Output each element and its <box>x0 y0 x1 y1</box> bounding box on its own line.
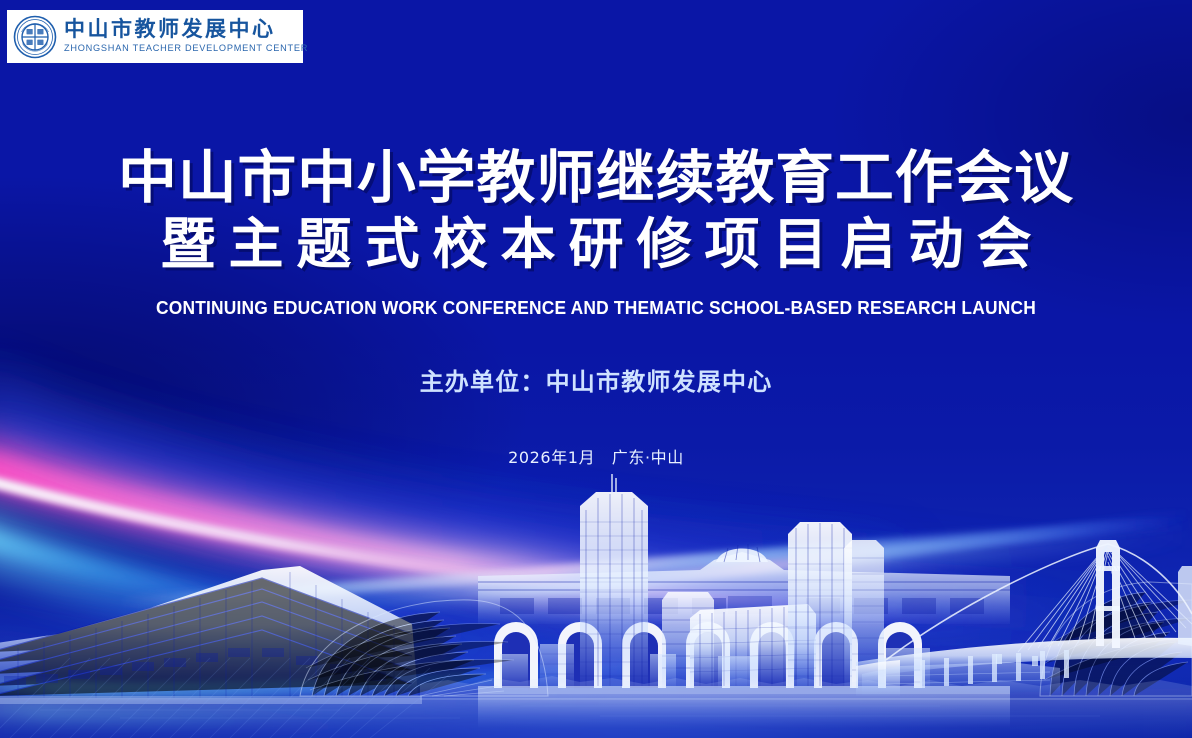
page-title-line-1: 中山市中小学教师继续教育工作会议 <box>0 145 1192 211</box>
circular-seal-icon <box>13 15 57 59</box>
page-title-line-2: 暨主题式校本研修项目启动会 <box>0 212 1192 276</box>
logo-name-en: ZHONGSHAN TEACHER DEVELOPMENT CENTER <box>64 44 308 53</box>
city-skyline-icon <box>0 448 1192 738</box>
datetime-location-line: 2026年1月 广东·中山 <box>0 444 1192 468</box>
conference-banner-slide: 中山市教师发展中心 ZHONGSHAN TEACHER DEVELOPMENT … <box>0 0 1192 738</box>
organizer-line: 主办单位：中山市教师发展中心 <box>0 362 1192 397</box>
water-reflection <box>0 698 1192 738</box>
subtitle-english: CONTINUING EDUCATION WORK CONFERENCE AND… <box>36 297 1156 319</box>
logo-name-cn: 中山市教师发展中心 <box>64 19 308 40</box>
logo-text-block: 中山市教师发展中心 ZHONGSHAN TEACHER DEVELOPMENT … <box>64 19 308 53</box>
organization-logo-lockup: 中山市教师发展中心 ZHONGSHAN TEACHER DEVELOPMENT … <box>7 10 303 63</box>
